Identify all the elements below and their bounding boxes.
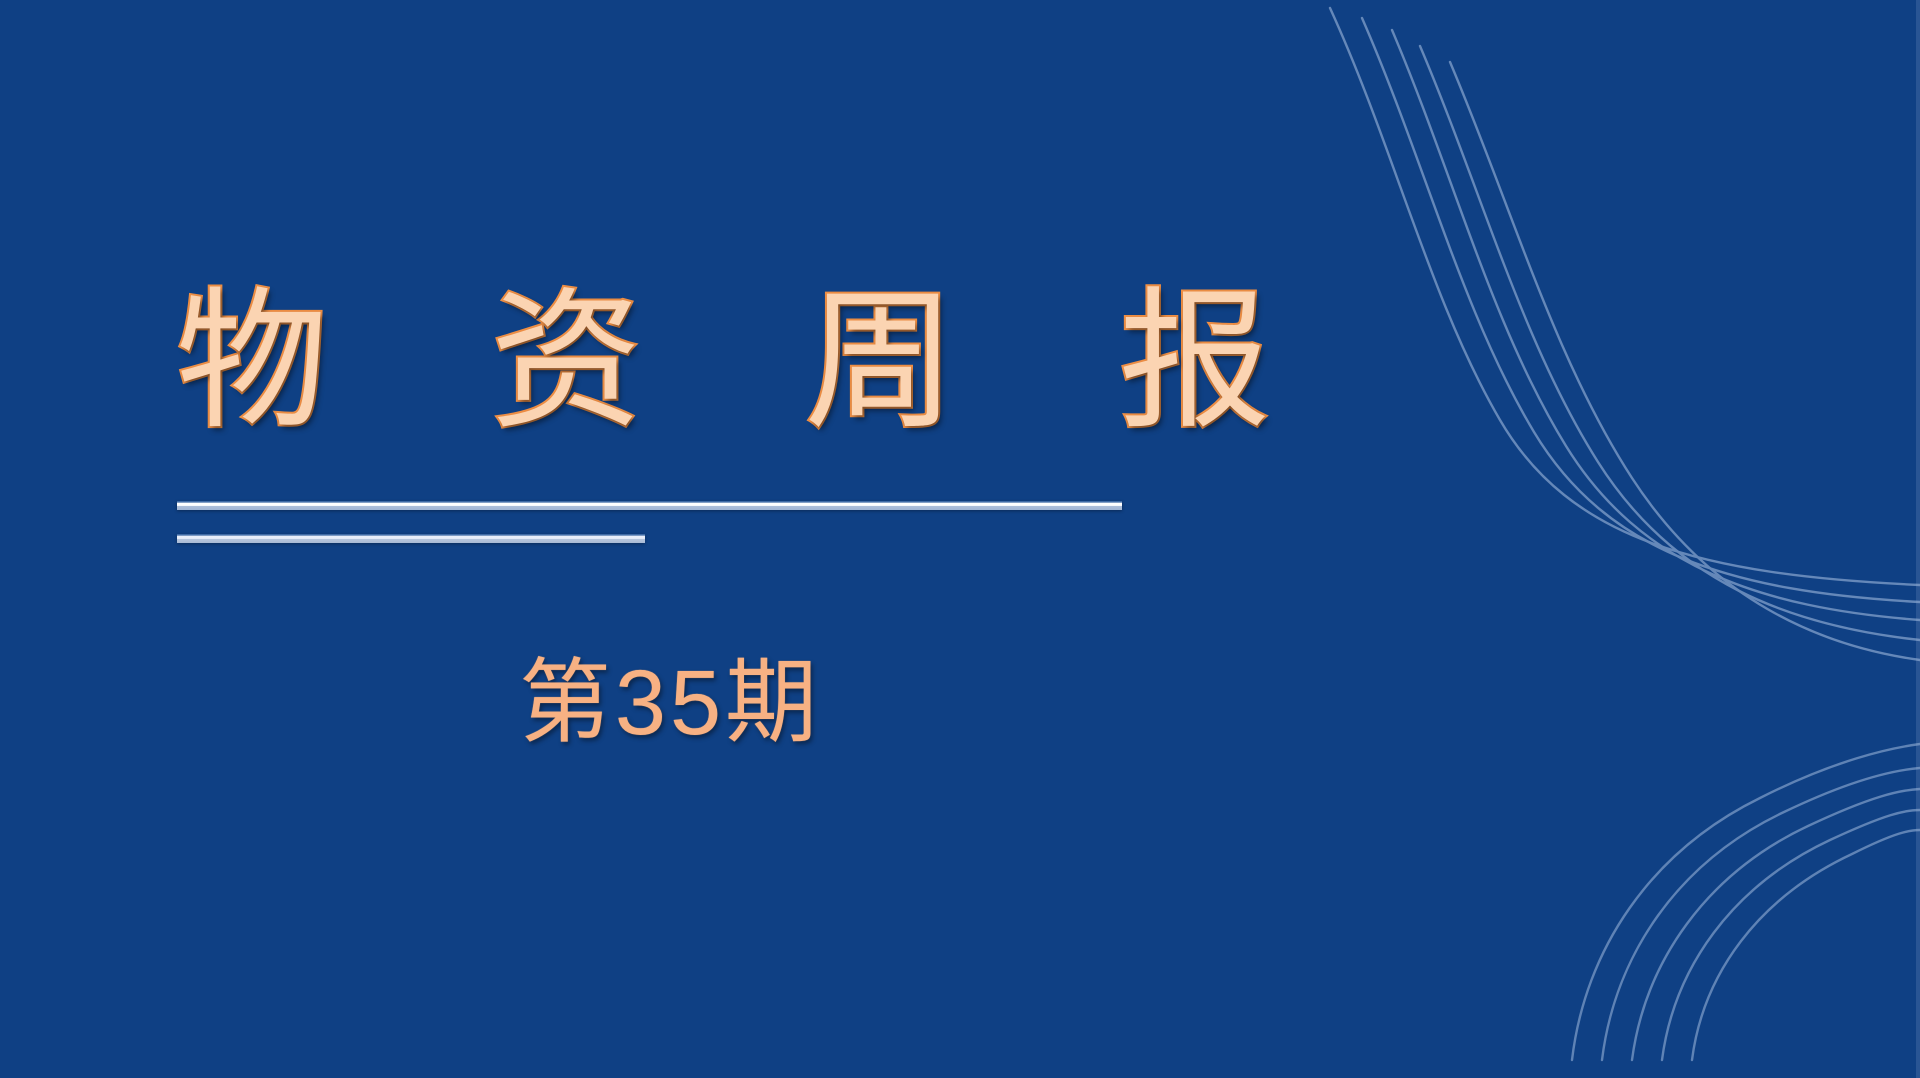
issue-subtitle: 第35期 — [0, 651, 1340, 757]
title-slide: 物 资 周 报 第35期 — [0, 0, 1920, 1078]
page-title: 物 资 周 报 — [176, 286, 1176, 438]
title-block: 物 资 周 报 — [176, 286, 1176, 438]
title-underline-long — [177, 501, 1122, 510]
title-underline-short — [177, 534, 645, 543]
right-edge-highlight — [1916, 0, 1920, 1078]
